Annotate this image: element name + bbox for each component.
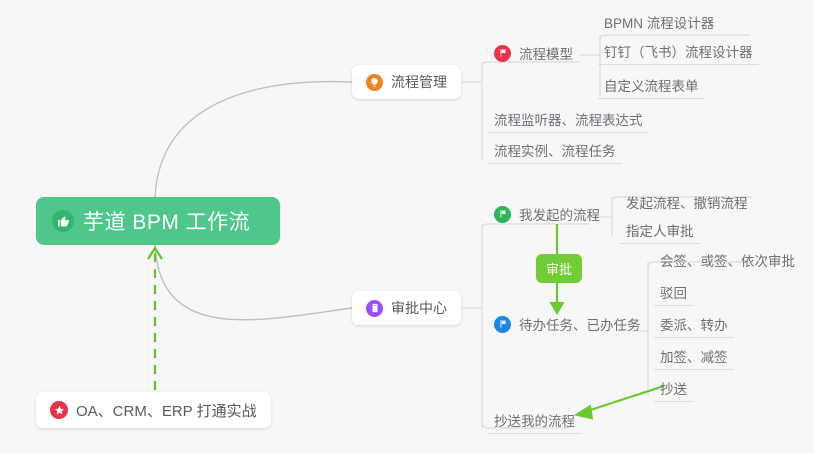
node-my-initiated[interactable]: 我发起的流程 bbox=[492, 200, 606, 228]
branch-process-management-label: 流程管理 bbox=[391, 72, 447, 92]
leaf-cc-to-me[interactable]: 抄送我的流程 bbox=[488, 406, 581, 434]
leaf-custom-process-form-label: 自定义流程表单 bbox=[604, 75, 699, 95]
leaf-custom-process-form[interactable]: 自定义流程表单 bbox=[598, 71, 705, 99]
flag-red-icon bbox=[494, 45, 511, 62]
leaf-assignee-approval[interactable]: 指定人审批 bbox=[620, 216, 700, 244]
edge-root-to-process-management bbox=[155, 82, 352, 197]
leaf-listener-expression[interactable]: 流程监听器、流程表达式 bbox=[488, 105, 649, 133]
leaf-delegate-transfer[interactable]: 委派、转办 bbox=[654, 310, 734, 338]
root-label: 芋道 BPM 工作流 bbox=[83, 206, 250, 236]
leaf-cc-to-me-label: 抄送我的流程 bbox=[494, 410, 575, 430]
lightbulb-icon bbox=[366, 74, 383, 91]
flag-green-icon bbox=[494, 206, 511, 223]
leaf-reject-label: 驳回 bbox=[660, 282, 687, 302]
node-todo-done-tasks[interactable]: 待办任务、已办任务 bbox=[492, 310, 647, 338]
leaf-instance-task-label: 流程实例、流程任务 bbox=[494, 140, 616, 160]
mindmap-canvas: 芋道 BPM 工作流 OA、CRM、ERP 打通实战 流程管理 流程模型 BPM… bbox=[0, 0, 814, 453]
branch-approval-center-label: 审批中心 bbox=[391, 298, 447, 318]
root-node[interactable]: 芋道 BPM 工作流 bbox=[36, 197, 280, 245]
node-process-model-label: 流程模型 bbox=[519, 43, 573, 63]
leaf-countersign-label: 会签、或签、依次审批 bbox=[660, 250, 795, 270]
arrowhead-note-to-root bbox=[148, 248, 162, 259]
approve-pill-label: 审批 bbox=[546, 262, 572, 277]
approve-pill: 审批 bbox=[536, 254, 582, 283]
thumbs-up-icon bbox=[52, 210, 74, 232]
branch-approval-center[interactable]: 审批中心 bbox=[352, 291, 461, 325]
arrow-cc-to-cctome bbox=[578, 386, 664, 414]
leaf-dingtalk-feishu-designer[interactable]: 钉钉（飞书）流程设计器 bbox=[598, 37, 759, 65]
branch-process-management[interactable]: 流程管理 bbox=[352, 65, 461, 99]
clipboard-icon bbox=[366, 300, 383, 317]
edge-root-to-approval-center bbox=[155, 245, 352, 320]
leaf-start-cancel[interactable]: 发起流程、撤销流程 bbox=[620, 188, 754, 216]
flag-blue-icon bbox=[494, 316, 511, 333]
leaf-reject[interactable]: 驳回 bbox=[654, 278, 693, 306]
node-todo-done-tasks-label: 待办任务、已办任务 bbox=[519, 314, 641, 334]
leaf-start-cancel-label: 发起流程、撤销流程 bbox=[626, 192, 748, 212]
leaf-carbon-copy-label: 抄送 bbox=[660, 378, 687, 398]
bottom-note-node[interactable]: OA、CRM、ERP 打通实战 bbox=[36, 392, 271, 428]
leaf-countersign[interactable]: 会签、或签、依次审批 bbox=[654, 246, 801, 274]
leaf-assignee-approval-label: 指定人审批 bbox=[626, 220, 694, 240]
leaf-instance-task[interactable]: 流程实例、流程任务 bbox=[488, 136, 622, 164]
bottom-note-label: OA、CRM、ERP 打通实战 bbox=[76, 400, 257, 421]
leaf-dingtalk-feishu-designer-label: 钉钉（飞书）流程设计器 bbox=[604, 41, 753, 61]
leaf-add-remove-sign[interactable]: 加签、减签 bbox=[654, 342, 734, 370]
leaf-listener-expression-label: 流程监听器、流程表达式 bbox=[494, 109, 643, 129]
star-icon bbox=[50, 401, 68, 419]
leaf-bpmn-designer[interactable]: BPMN 流程设计器 bbox=[598, 8, 720, 36]
node-my-initiated-label: 我发起的流程 bbox=[519, 204, 600, 224]
leaf-carbon-copy[interactable]: 抄送 bbox=[654, 374, 693, 402]
leaf-add-remove-sign-label: 加签、减签 bbox=[660, 346, 728, 366]
leaf-delegate-transfer-label: 委派、转办 bbox=[660, 314, 728, 334]
node-process-model[interactable]: 流程模型 bbox=[492, 39, 579, 67]
leaf-bpmn-designer-label: BPMN 流程设计器 bbox=[604, 12, 714, 32]
